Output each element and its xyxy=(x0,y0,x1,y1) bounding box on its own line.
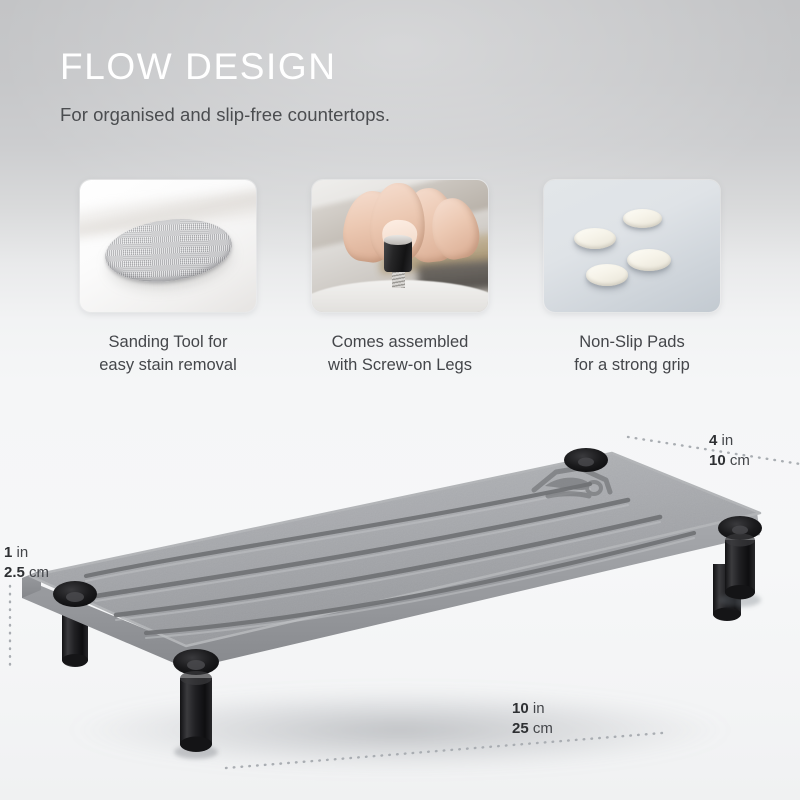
caption-line-1: Non-Slip Pads xyxy=(544,331,720,354)
height-metric-value: 2.5 xyxy=(4,564,25,581)
feature-image-card-sanding-tool xyxy=(80,180,256,312)
leg-socket-back-left xyxy=(53,581,97,607)
feature-caption-screw-on-legs: Comes assembled with Screw-on Legs xyxy=(312,331,488,378)
product-stage xyxy=(0,400,800,800)
width-metric-unit: cm xyxy=(533,720,553,737)
leg-front-left xyxy=(174,671,218,759)
height-metric: 2.5 cm xyxy=(4,563,49,583)
product-illustration xyxy=(0,400,800,800)
caption-line-2: with Screw-on Legs xyxy=(312,354,488,377)
caption-line-1: Sanding Tool for xyxy=(80,331,256,354)
page-subtitle: For organised and slip-free countertops. xyxy=(60,104,760,126)
width-imperial-unit: in xyxy=(533,700,545,717)
dimension-label-depth: 4 in 10 cm xyxy=(709,431,750,471)
caption-line-1: Comes assembled xyxy=(312,331,488,354)
caption-line-2: for a strong grip xyxy=(544,354,720,377)
feature-image-card-non-slip-pads xyxy=(544,180,720,312)
leg-top-highlight xyxy=(384,235,412,244)
non-slip-pad-2 xyxy=(623,209,662,227)
height-imperial: 1 in xyxy=(4,543,49,563)
leg-front-right xyxy=(719,534,761,608)
feature-caption-non-slip-pads: Non-Slip Pads for a strong grip xyxy=(544,331,720,378)
feature-non-slip-pads: Non-Slip Pads for a strong grip xyxy=(544,180,720,378)
feature-list: Sanding Tool for easy stain removal Com xyxy=(0,180,800,378)
feature-screw-on-legs: Comes assembled with Screw-on Legs xyxy=(312,180,488,378)
product-ground-shadow xyxy=(70,688,730,772)
height-imperial-unit: in xyxy=(17,544,29,561)
depth-metric-unit: cm xyxy=(730,452,750,469)
non-slip-pad-3 xyxy=(627,249,671,271)
feature-sanding-tool: Sanding Tool for easy stain removal xyxy=(80,180,256,378)
header: FLOW DESIGN For organised and slip-free … xyxy=(60,48,760,126)
width-metric: 25 cm xyxy=(512,719,553,739)
width-imperial: 10 in xyxy=(512,699,553,719)
non-slip-pad-4 xyxy=(586,264,628,285)
feature-caption-sanding-tool: Sanding Tool for easy stain removal xyxy=(80,331,256,378)
screw-thread-icon xyxy=(392,270,405,288)
depth-imperial-value: 4 xyxy=(709,432,717,449)
depth-metric: 10 cm xyxy=(709,451,750,471)
dimension-label-width: 10 in 25 cm xyxy=(512,699,553,739)
caption-line-2: easy stain removal xyxy=(80,354,256,377)
non-slip-pads-photo xyxy=(544,180,720,312)
non-slip-pad-1 xyxy=(574,228,616,249)
depth-imperial: 4 in xyxy=(709,431,750,451)
width-metric-value: 25 xyxy=(512,720,529,737)
hand-attaching-screw-on-leg-photo xyxy=(312,180,488,312)
leg-socket-back-right xyxy=(564,448,608,472)
depth-metric-value: 10 xyxy=(709,452,726,469)
depth-imperial-unit: in xyxy=(722,432,734,449)
height-imperial-value: 1 xyxy=(4,544,12,561)
width-imperial-value: 10 xyxy=(512,700,529,717)
page-title: FLOW DESIGN xyxy=(60,48,760,87)
feature-image-card-screw-on-legs xyxy=(312,180,488,312)
sanding-disc-photo xyxy=(80,180,256,312)
height-metric-unit: cm xyxy=(29,564,49,581)
dimension-label-height: 1 in 2.5 cm xyxy=(4,543,49,583)
